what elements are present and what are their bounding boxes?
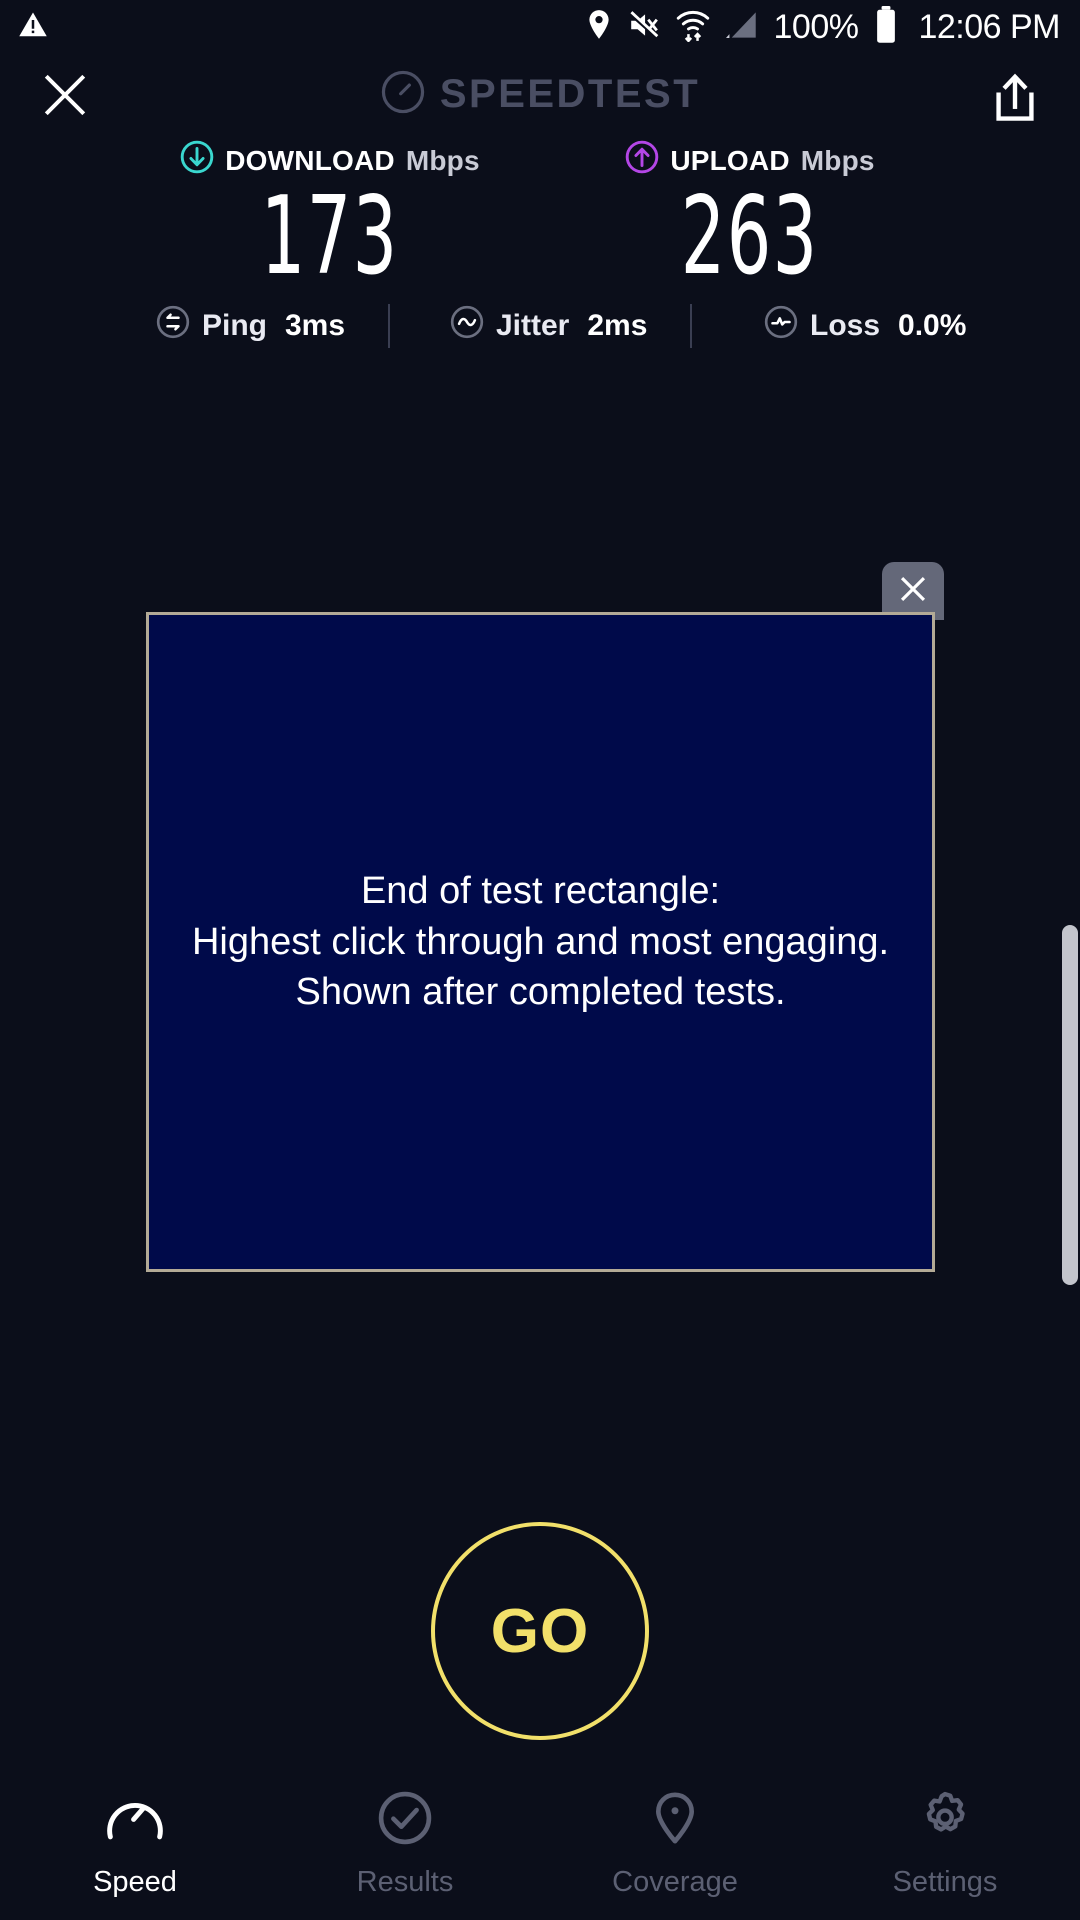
go-button[interactable]: GO (431, 1522, 649, 1740)
speedometer-icon (380, 69, 426, 120)
check-circle-icon (374, 1789, 436, 1852)
status-bar-left (18, 10, 48, 45)
ping-name: Ping (202, 309, 267, 343)
download-value: 173 (261, 183, 399, 291)
battery-percent-label: 100% (774, 8, 859, 47)
nav-item-coverage[interactable]: Coverage (540, 1789, 810, 1899)
metric-loss: Loss 0.0% (692, 305, 992, 347)
app-header: SPEEDTEST (0, 55, 1080, 140)
jitter-wave-circle-icon (450, 305, 484, 347)
wifi-icon (676, 8, 710, 47)
ad-text: End of test rectangle: Highest click thr… (192, 866, 889, 1018)
download-result: DOWNLOAD Mbps 173 (120, 140, 540, 291)
share-upload-icon (991, 72, 1039, 129)
nav-item-results[interactable]: Results (270, 1789, 540, 1899)
download-label: DOWNLOAD (225, 145, 395, 177)
upload-unit: Mbps (801, 145, 875, 177)
metric-ping: Ping 3ms (88, 305, 388, 347)
brand-name: SPEEDTEST (440, 72, 700, 117)
location-pin-icon (644, 1789, 706, 1852)
nav-label-results: Results (357, 1866, 454, 1899)
nav-item-settings[interactable]: Settings (810, 1789, 1080, 1899)
go-button-container: GO (0, 1522, 1080, 1740)
battery-full-icon (874, 6, 898, 49)
ad-line-3: Shown after completed tests. (192, 967, 889, 1018)
gear-icon (914, 1789, 976, 1852)
brand-logo: SPEEDTEST (0, 69, 1080, 120)
status-bar-clock: 12:06 PM (918, 8, 1060, 47)
status-bar: 100% 12:06 PM (0, 0, 1080, 55)
upload-value: 263 (681, 183, 819, 291)
nav-label-settings: Settings (893, 1866, 998, 1899)
upload-label: UPLOAD (670, 145, 789, 177)
speed-values-row: DOWNLOAD Mbps 173 UPLOAD Mbps 263 (0, 140, 1080, 291)
metric-jitter: Jitter 2ms (390, 305, 690, 347)
metrics-row: Ping 3ms Jitter 2ms Loss 0.0% (0, 304, 1080, 348)
arrow-up-circle-icon (625, 140, 659, 181)
ad-line-1: End of test rectangle: (192, 866, 889, 917)
close-x-icon (896, 572, 930, 611)
nav-label-speed: Speed (93, 1866, 177, 1899)
loss-value: 0.0% (898, 309, 966, 343)
cellular-signal-icon (726, 9, 758, 46)
status-bar-right: 100% 12:06 PM (586, 6, 1061, 49)
location-pin-icon (586, 9, 612, 46)
jitter-value: 2ms (587, 309, 647, 343)
nav-item-speed[interactable]: Speed (0, 1789, 270, 1899)
vertical-scrollbar[interactable] (1062, 925, 1078, 1285)
results-panel: DOWNLOAD Mbps 173 UPLOAD Mbps 263 (0, 140, 1080, 291)
ping-value: 3ms (285, 309, 345, 343)
download-unit: Mbps (406, 145, 480, 177)
ping-arrows-circle-icon (156, 305, 190, 347)
ad-line-2: Highest click through and most engaging. (192, 917, 889, 968)
speedometer-icon (104, 1789, 166, 1852)
bottom-navigation: Speed Results Coverage Settings (0, 1775, 1080, 1920)
jitter-name: Jitter (496, 309, 569, 343)
arrow-down-circle-icon (180, 140, 214, 181)
volume-mute-icon (628, 10, 660, 45)
nav-label-coverage: Coverage (612, 1866, 738, 1899)
upload-result: UPLOAD Mbps 263 (540, 140, 960, 291)
go-button-label: GO (491, 1596, 589, 1667)
share-button[interactable] (985, 69, 1045, 131)
warning-triangle-icon (18, 10, 48, 45)
advertisement-banner[interactable]: End of test rectangle: Highest click thr… (146, 612, 935, 1272)
loss-pulse-circle-icon (764, 305, 798, 347)
loss-name: Loss (810, 309, 880, 343)
